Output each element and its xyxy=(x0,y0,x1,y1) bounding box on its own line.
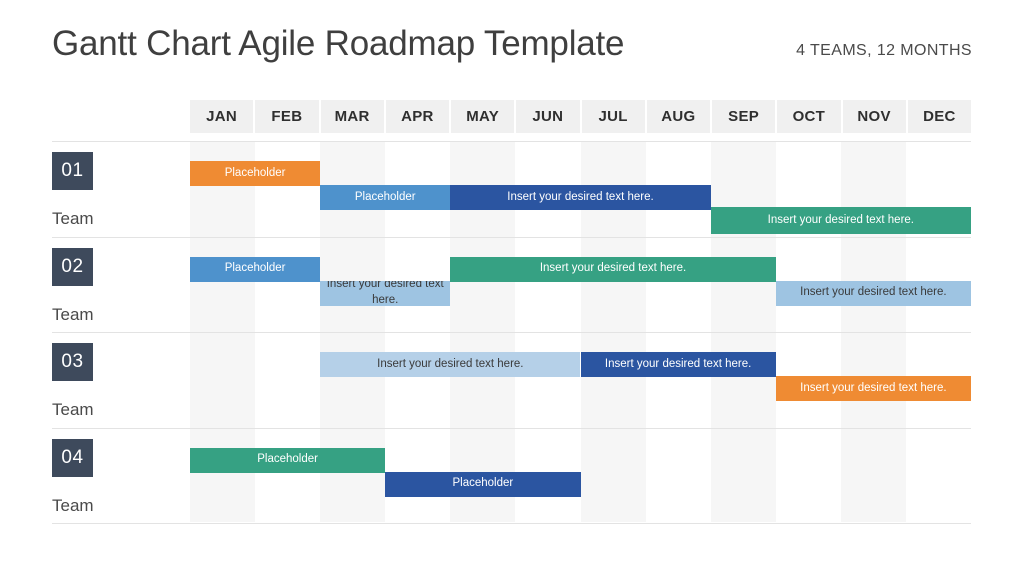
gantt-bar[interactable]: Placeholder xyxy=(385,472,580,497)
month-header-jan[interactable]: JAN xyxy=(190,100,255,133)
team-number-badge-02[interactable]: 02 xyxy=(52,248,93,286)
gantt-bar[interactable]: Placeholder xyxy=(190,161,320,186)
gantt-bar[interactable]: Insert your desired text here. xyxy=(320,281,450,306)
month-header-oct[interactable]: OCT xyxy=(777,100,842,133)
month-header-row: JANFEBMARAPRMAYJUNJULAUGSEPOCTNOVDEC xyxy=(190,100,971,133)
team-number-badge-04[interactable]: 04 xyxy=(52,439,93,477)
team-label-02: Team xyxy=(52,305,94,325)
gantt-bar[interactable]: Insert your desired text here. xyxy=(776,281,971,306)
row-separator xyxy=(52,141,971,142)
page-subtitle: 4 TEAMS, 12 MONTHS xyxy=(796,42,972,60)
month-header-jul[interactable]: JUL xyxy=(582,100,647,133)
gantt-bar[interactable]: Insert your desired text here. xyxy=(450,185,710,210)
gantt-bar[interactable]: Placeholder xyxy=(190,448,385,473)
slide-root: Gantt Chart Agile Roadmap Template 4 TEA… xyxy=(0,0,1024,576)
month-header-mar[interactable]: MAR xyxy=(321,100,386,133)
team-number-badge-01[interactable]: 01 xyxy=(52,152,93,190)
gantt-bar[interactable]: Insert your desired text here. xyxy=(450,257,775,282)
page-title: Gantt Chart Agile Roadmap Template xyxy=(52,24,624,64)
row-separator xyxy=(52,237,971,238)
gantt-bar[interactable]: Placeholder xyxy=(190,257,320,282)
row-separator xyxy=(52,428,971,429)
month-header-sep[interactable]: SEP xyxy=(712,100,777,133)
month-header-jun[interactable]: JUN xyxy=(516,100,581,133)
month-header-aug[interactable]: AUG xyxy=(647,100,712,133)
month-header-may[interactable]: MAY xyxy=(451,100,516,133)
gantt-bar[interactable]: Insert your desired text here. xyxy=(581,352,776,377)
month-header-apr[interactable]: APR xyxy=(386,100,451,133)
gantt-bar[interactable]: Insert your desired text here. xyxy=(320,352,580,377)
team-label-01: Team xyxy=(52,209,94,229)
gantt-bar[interactable]: Insert your desired text here. xyxy=(711,207,971,234)
slide-header: Gantt Chart Agile Roadmap Template 4 TEA… xyxy=(0,24,1024,80)
month-header-dec[interactable]: DEC xyxy=(908,100,971,133)
row-separator xyxy=(52,332,971,333)
row-separator xyxy=(52,523,971,524)
team-number-badge-03[interactable]: 03 xyxy=(52,343,93,381)
team-label-04: Team xyxy=(52,496,94,516)
gantt-bar[interactable]: Placeholder xyxy=(320,185,450,210)
month-header-nov[interactable]: NOV xyxy=(843,100,908,133)
month-header-feb[interactable]: FEB xyxy=(255,100,320,133)
gantt-bar[interactable]: Insert your desired text here. xyxy=(776,376,971,401)
team-label-03: Team xyxy=(52,400,94,420)
